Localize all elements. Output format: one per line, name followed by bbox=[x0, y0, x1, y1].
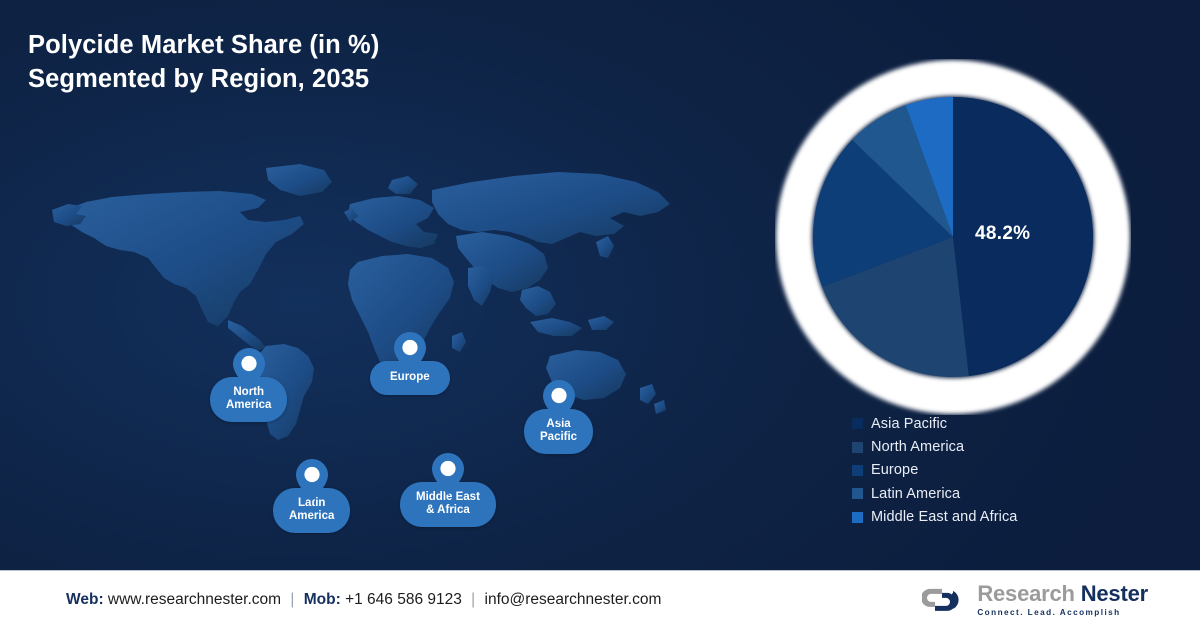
pie-slices bbox=[813, 97, 1093, 377]
map-pin-icon bbox=[394, 332, 426, 374]
research-nester-logo[interactable]: Research Nester Connect. Lead. Accomplis… bbox=[922, 582, 1148, 616]
title-line-1: Polycide Market Share (in %) bbox=[28, 31, 379, 59]
title-line-2: Segmented by Region, 2035 bbox=[28, 62, 668, 96]
world-map: North America Europe Asia Pacific Latin … bbox=[52, 150, 742, 440]
pie-data-label: 48.2% bbox=[975, 223, 1030, 245]
footer-email[interactable]: info@researchnester.com bbox=[485, 591, 662, 608]
legend-item-europe[interactable]: Europe bbox=[852, 459, 1017, 482]
footer-contact: Web: www.researchnester.com | Mob: +1 64… bbox=[66, 591, 661, 609]
legend-label: Europe bbox=[871, 462, 918, 478]
legend-item-north-america[interactable]: North America bbox=[852, 435, 1017, 458]
legend-label: Latin America bbox=[871, 486, 960, 502]
legend-item-latin-america[interactable]: Latin America bbox=[852, 482, 1017, 505]
map-marker-latin-america[interactable]: Latin America bbox=[273, 459, 350, 533]
map-marker-asia-pacific[interactable]: Asia Pacific bbox=[524, 380, 593, 454]
footer-web-value[interactable]: www.researchnester.com bbox=[108, 591, 281, 608]
legend-swatch bbox=[852, 442, 863, 453]
legend-label: Middle East and Africa bbox=[871, 509, 1017, 525]
map-pin-icon bbox=[296, 459, 328, 501]
legend-swatch bbox=[852, 488, 863, 499]
logo-word-nester: Nester bbox=[1081, 580, 1148, 605]
legend-item-asia-pacific[interactable]: Asia Pacific bbox=[852, 412, 1017, 435]
legend-swatch bbox=[852, 512, 863, 523]
logo-tagline: Connect. Lead. Accomplish bbox=[977, 608, 1148, 616]
footer-separator-2: | bbox=[466, 591, 480, 608]
map-marker-north-america[interactable]: North America bbox=[210, 348, 287, 422]
legend-label: North America bbox=[871, 439, 964, 455]
map-marker-middle-east-africa[interactable]: Middle East & Africa bbox=[400, 453, 496, 527]
map-pin-icon bbox=[543, 380, 575, 422]
legend-item-middle-east-africa[interactable]: Middle East and Africa bbox=[852, 506, 1017, 529]
footer-mob-label: Mob: bbox=[304, 591, 341, 608]
legend-label: Asia Pacific bbox=[871, 416, 947, 432]
map-marker-europe[interactable]: Europe bbox=[370, 332, 450, 395]
logo-word-research: Research bbox=[977, 580, 1074, 605]
footer-bar: Web: www.researchnester.com | Mob: +1 64… bbox=[0, 570, 1200, 628]
footer-mob-value[interactable]: +1 646 586 9123 bbox=[345, 591, 462, 608]
page-title: Polycide Market Share (in %) Segmented b… bbox=[28, 28, 668, 96]
interlocking-brackets-icon bbox=[922, 585, 968, 613]
footer-web-label: Web: bbox=[66, 591, 104, 608]
legend-swatch bbox=[852, 418, 863, 429]
pie-chart bbox=[775, 59, 1131, 415]
footer-separator-1: | bbox=[285, 591, 299, 608]
legend-swatch bbox=[852, 465, 863, 476]
map-pin-icon bbox=[432, 453, 464, 495]
chart-canvas: Polycide Market Share (in %) Segmented b… bbox=[0, 0, 1200, 570]
chart-legend: Asia Pacific North America Europe Latin … bbox=[852, 412, 1017, 529]
map-pin-icon bbox=[233, 348, 265, 390]
